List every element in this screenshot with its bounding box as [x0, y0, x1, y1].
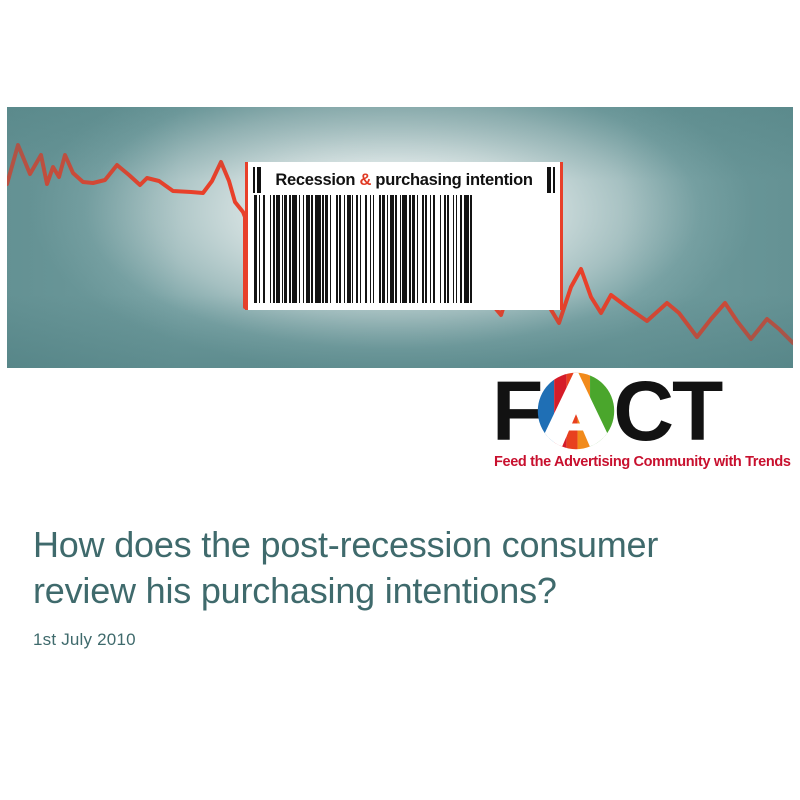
fact-logo: F C T Feed the Advertisin — [492, 370, 792, 480]
barcode-guard-left — [253, 167, 261, 193]
barcode-guard-right — [547, 167, 555, 193]
barcode-title-prefix: Recession — [275, 170, 359, 189]
hero-banner: Recession & purchasing intention — [7, 107, 793, 368]
barcode-bar — [472, 195, 475, 303]
page-title: How does the post-recession consumer rev… — [33, 522, 763, 614]
title-block: How does the post-recession consumer rev… — [33, 522, 763, 650]
fact-wordmark: F C T — [492, 370, 792, 452]
barcode-title-row: Recession & purchasing intention — [253, 167, 555, 193]
trendline-left-segment — [7, 145, 245, 307]
barcode-left-red-edge — [245, 162, 248, 310]
barcode-title-ampersand: & — [360, 170, 372, 189]
barcode-right-red-edge — [560, 162, 563, 310]
segmented-circle-a-svg — [537, 372, 615, 450]
logo-letter-t: T — [672, 370, 721, 452]
barcode-title-text: Recession & purchasing intention — [265, 170, 542, 190]
page-date: 1st July 2010 — [33, 630, 763, 650]
logo-tagline: Feed the Advertising Community with Tren… — [494, 454, 792, 470]
segmented-circle-a-icon — [537, 372, 615, 450]
barcode-bars — [254, 195, 554, 303]
logo-letter-c: C — [613, 370, 672, 452]
barcode-graphic: Recession & purchasing intention — [245, 162, 563, 310]
barcode-title-suffix: purchasing intention — [371, 170, 533, 189]
logo-letter-f: F — [492, 370, 541, 452]
